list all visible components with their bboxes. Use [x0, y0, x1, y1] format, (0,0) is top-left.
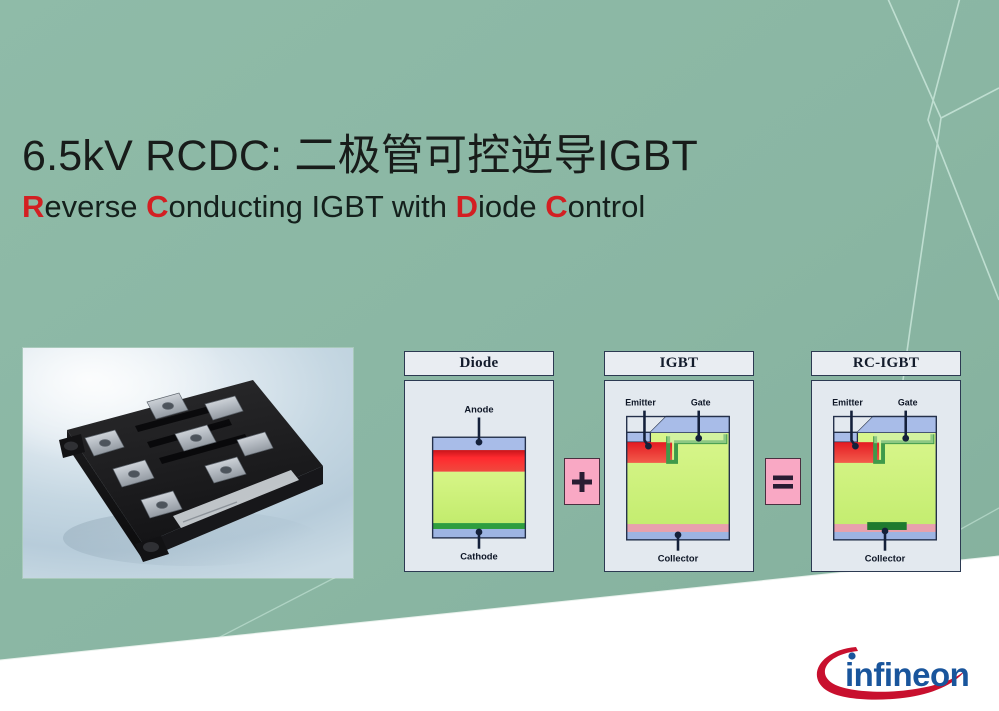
- subtitle-text: onducting IGBT with: [168, 189, 455, 224]
- subtitle-accent-letter: C: [146, 189, 168, 224]
- svg-text:Collector: Collector: [865, 554, 906, 564]
- svg-text:Gate: Gate: [898, 398, 918, 408]
- subtitle-accent-letter: D: [456, 189, 478, 224]
- panel-title-rc-igbt: RC-IGBT: [811, 351, 961, 376]
- product-photo: [23, 348, 353, 578]
- panel-rc-igbt: Emitter Gate Collector: [811, 380, 961, 572]
- panel-title-igbt: IGBT: [604, 351, 754, 376]
- subtitle-accent-letter: R: [22, 189, 44, 224]
- page-title: 6.5kV RCDC: 二极管可控逆导IGBT: [22, 132, 942, 180]
- plus-icon: [570, 470, 594, 494]
- igbt-cross-section: Emitter Gate Collector: [605, 381, 753, 570]
- rc-igbt-cross-section: Emitter Gate Collector: [812, 381, 960, 570]
- subtitle-text: iode: [478, 189, 545, 224]
- svg-text:Anode: Anode: [464, 405, 493, 415]
- subtitle-accent-letter: C: [545, 189, 567, 224]
- slide-root: 6.5kV RCDC: 二极管可控逆导IGBT Reverse Conducti…: [0, 0, 999, 711]
- panel-title-diode: Diode: [404, 351, 554, 376]
- panel-igbt: Emitter Gate Collector: [604, 380, 754, 572]
- equals-operator: [765, 458, 801, 505]
- svg-text:Collector: Collector: [658, 554, 699, 564]
- svg-text:Emitter: Emitter: [832, 398, 863, 408]
- svg-text:Cathode: Cathode: [460, 552, 497, 562]
- svg-text:Gate: Gate: [691, 398, 711, 408]
- svg-text:Emitter: Emitter: [625, 398, 656, 408]
- title-block: 6.5kV RCDC: 二极管可控逆导IGBT Reverse Conducti…: [22, 132, 942, 224]
- subtitle-text: everse: [44, 189, 146, 224]
- infineon-logo-mark: infineon: [808, 640, 976, 702]
- igbt-module-illustration: [23, 348, 353, 578]
- panel-diode: Anode Cathode: [404, 380, 554, 572]
- infineon-logo: infineon: [808, 640, 976, 702]
- plus-operator: [564, 458, 600, 505]
- page-subtitle: Reverse Conducting IGBT with Diode Contr…: [22, 190, 942, 224]
- infineon-wordmark: infineon: [845, 656, 969, 693]
- subtitle-text: ontrol: [568, 189, 646, 224]
- diode-cross-section: Anode Cathode: [405, 381, 553, 570]
- equals-icon: [771, 472, 795, 492]
